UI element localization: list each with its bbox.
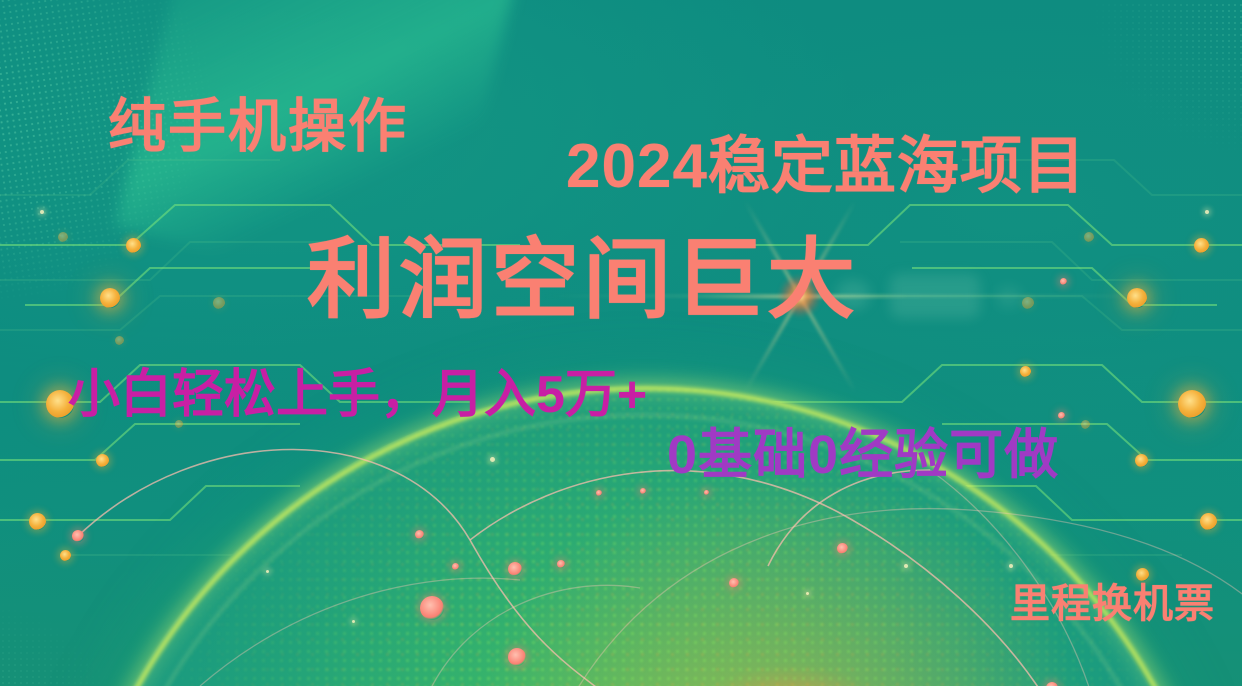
flare-ghost — [996, 286, 1022, 308]
headline-easy-start: 小白轻松上手，月入5万+ — [68, 369, 647, 421]
circuit-node — [1194, 238, 1209, 253]
arc-endpoint-dot — [452, 563, 459, 570]
arc-endpoint-dot — [596, 490, 602, 496]
sparkle-dot — [352, 620, 355, 623]
arc-endpoint-dot — [508, 562, 522, 576]
arc-endpoint-dot — [420, 596, 444, 620]
circuit-node — [58, 232, 68, 242]
sparkle-dot — [1205, 210, 1209, 214]
sparkle-dot — [266, 570, 269, 573]
arc-endpoint-dot — [557, 560, 565, 568]
headline-profit: 利润空间巨大 — [307, 236, 859, 324]
headline-zero-base: 0基础0经验可做 — [667, 428, 1059, 482]
sparkle-dot — [490, 457, 495, 462]
headline-pure-mobile: 纯手机操作 — [108, 98, 408, 156]
arc-endpoint-dot — [640, 488, 646, 494]
flare-ghost — [890, 274, 980, 318]
arc-endpoint-dot — [415, 530, 424, 539]
sparkle-dot — [904, 564, 908, 568]
arc-endpoint-dot — [508, 648, 526, 666]
circuit-node — [126, 238, 141, 253]
arc-endpoint-dot — [704, 490, 709, 495]
sparkle-dot — [40, 210, 44, 214]
arc-endpoint-dot — [837, 543, 848, 554]
sparkle-dot — [806, 592, 809, 595]
headline-miles-ticket: 里程换机票 — [1010, 584, 1215, 624]
headline-project-2024: 2024稳定蓝海项目 — [566, 136, 1086, 198]
arc-endpoint-dot — [729, 578, 739, 588]
sparkle-dot — [1009, 564, 1013, 568]
poster-canvas: 纯手机操作 2024稳定蓝海项目 利润空间巨大 小白轻松上手，月入5万+ 0基础… — [0, 0, 1242, 686]
arc-endpoint-dot — [72, 530, 84, 542]
circuit-node — [1084, 232, 1094, 242]
